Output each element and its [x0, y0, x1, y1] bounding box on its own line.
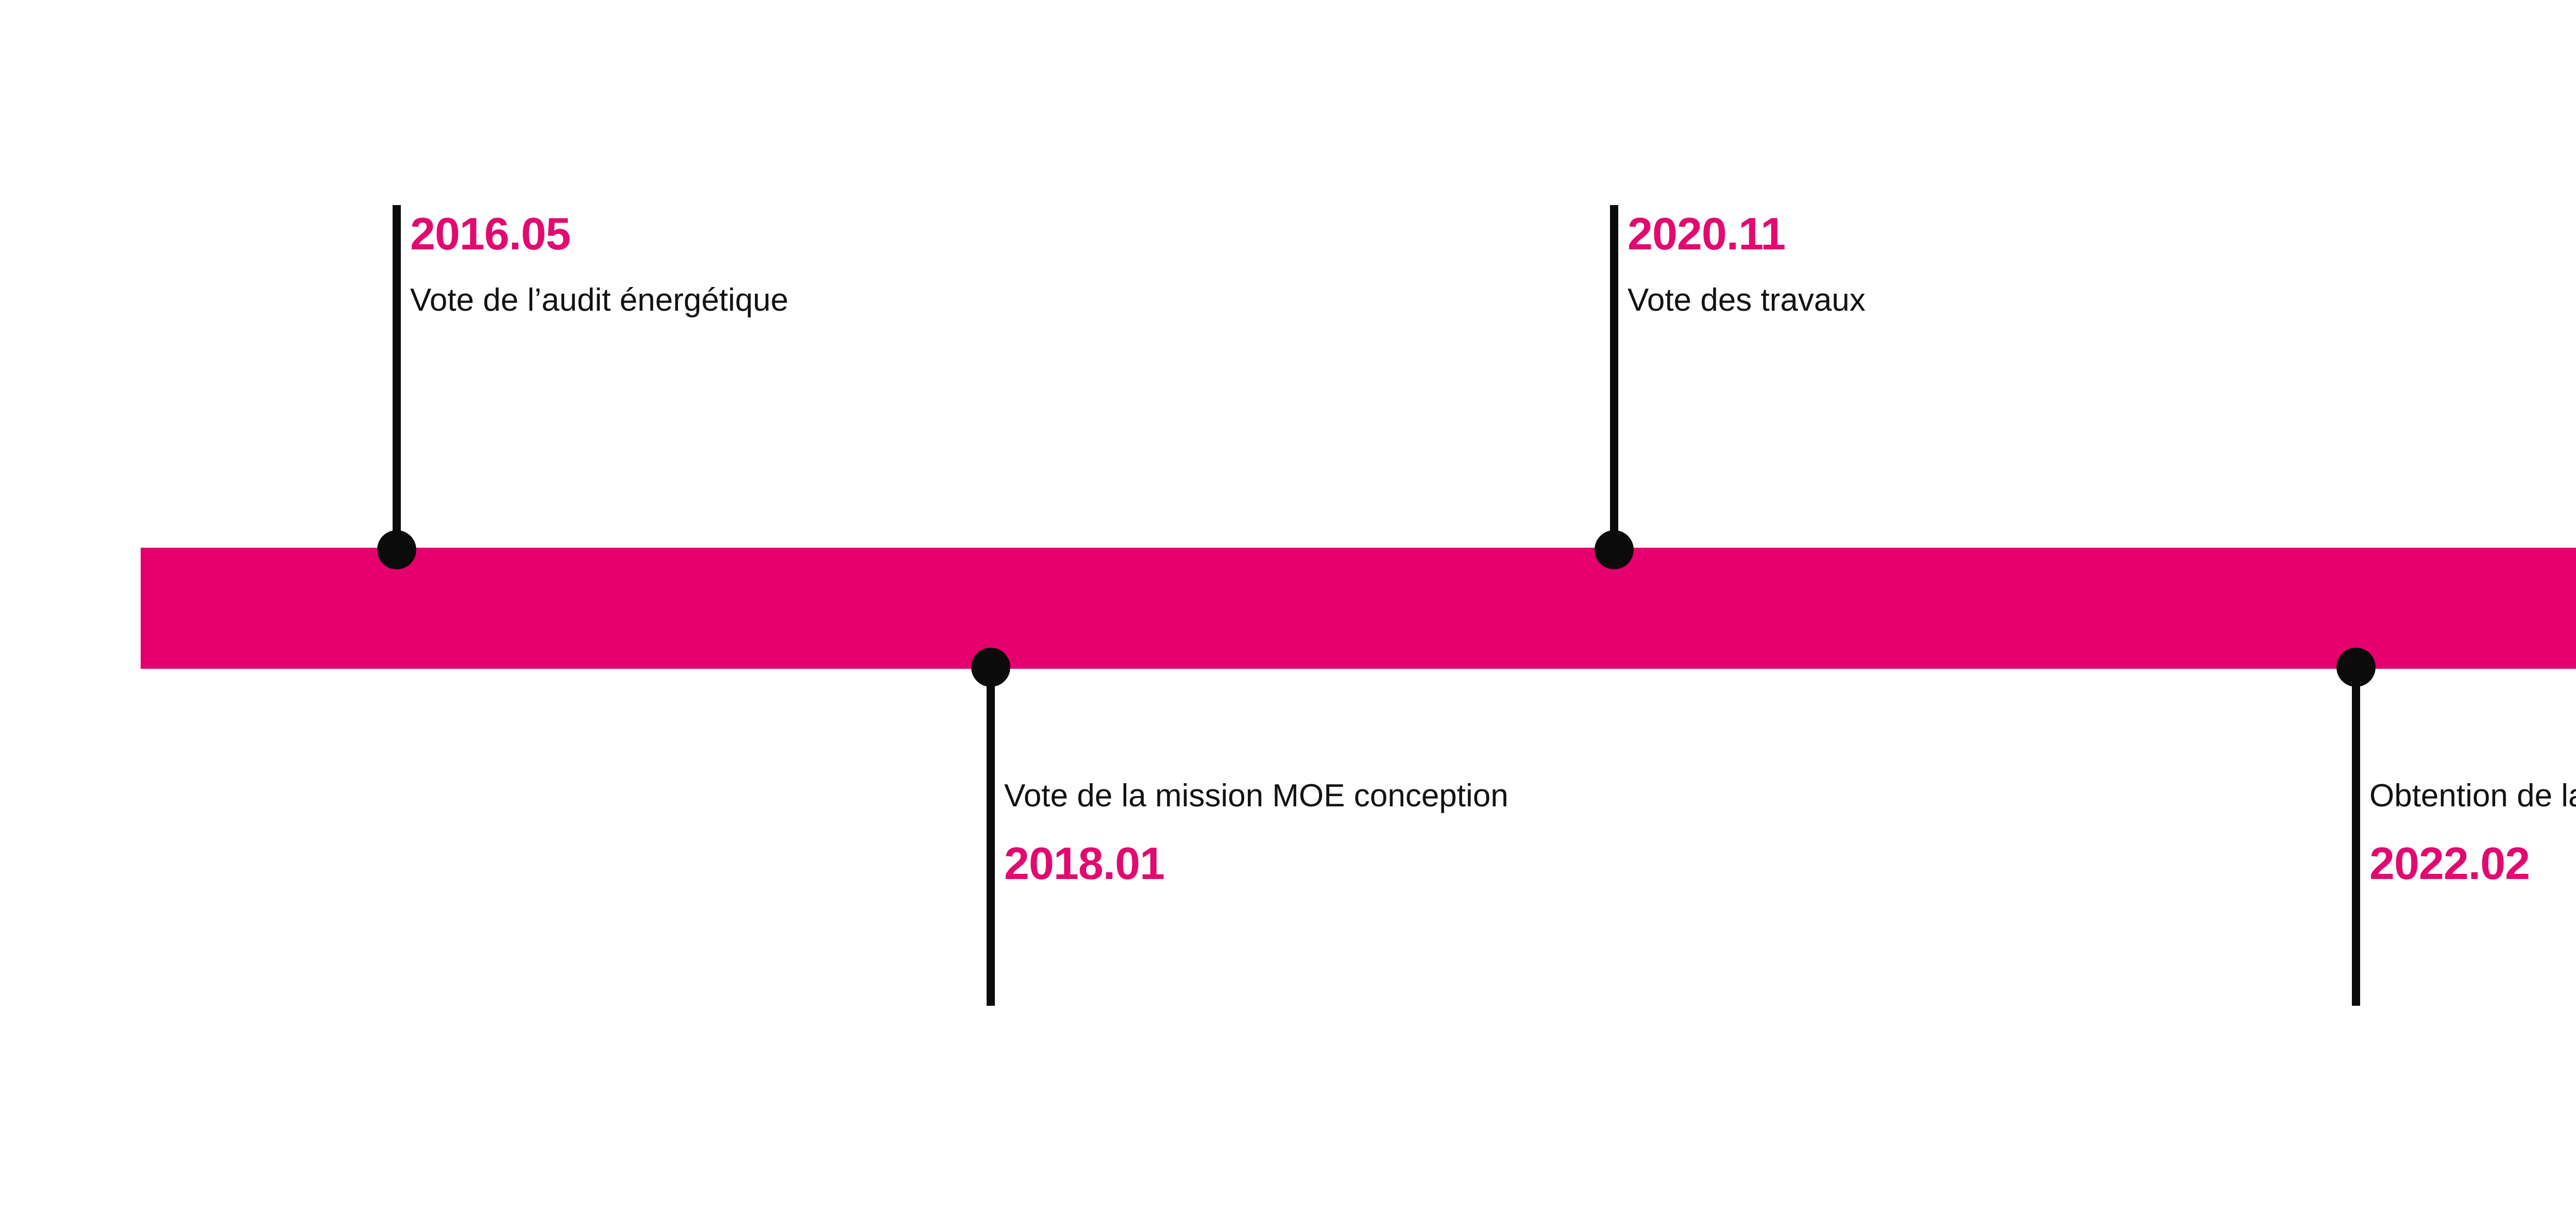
milestone-description: Obtention de la Déclaration Préalable	[2369, 775, 2576, 816]
milestone-dot-icon	[971, 648, 1010, 687]
milestone-dot-icon	[1595, 530, 1634, 569]
milestone-connector-line	[1610, 205, 1618, 551]
milestone-connector-line	[393, 205, 401, 551]
milestone-label: 2020.11Vote des travaux	[1628, 209, 2220, 320]
milestone-dot-icon	[2336, 648, 2376, 687]
milestone-description: Vote des travaux	[1628, 280, 2220, 320]
milestone-date: 2022.02	[2369, 839, 2576, 888]
milestone-connector-line	[987, 667, 995, 1006]
milestone-date: 2020.11	[1628, 209, 2220, 258]
milestone-connector-line	[2352, 667, 2360, 1006]
milestone-date: 2018.01	[1004, 839, 1622, 888]
milestone-label: 2016.05Vote de l’audit énergétique	[410, 209, 1003, 320]
milestone-description: Vote de l’audit énergétique	[410, 280, 1003, 320]
milestone-label: Obtention de la Déclaration Préalable202…	[2369, 775, 2576, 888]
timeline-bar-body	[141, 548, 2576, 669]
milestone-label: Vote de la mission MOE conception2018.01	[1004, 775, 1622, 888]
milestone-date: 2016.05	[410, 209, 1003, 258]
timeline-arrow-bar	[141, 548, 2576, 669]
timeline-diagram: 2016.05Vote de l’audit énergétiqueVote d…	[0, 0, 2576, 1217]
milestone-dot-icon	[377, 530, 416, 569]
milestone-description: Vote de la mission MOE conception	[1004, 775, 1622, 816]
